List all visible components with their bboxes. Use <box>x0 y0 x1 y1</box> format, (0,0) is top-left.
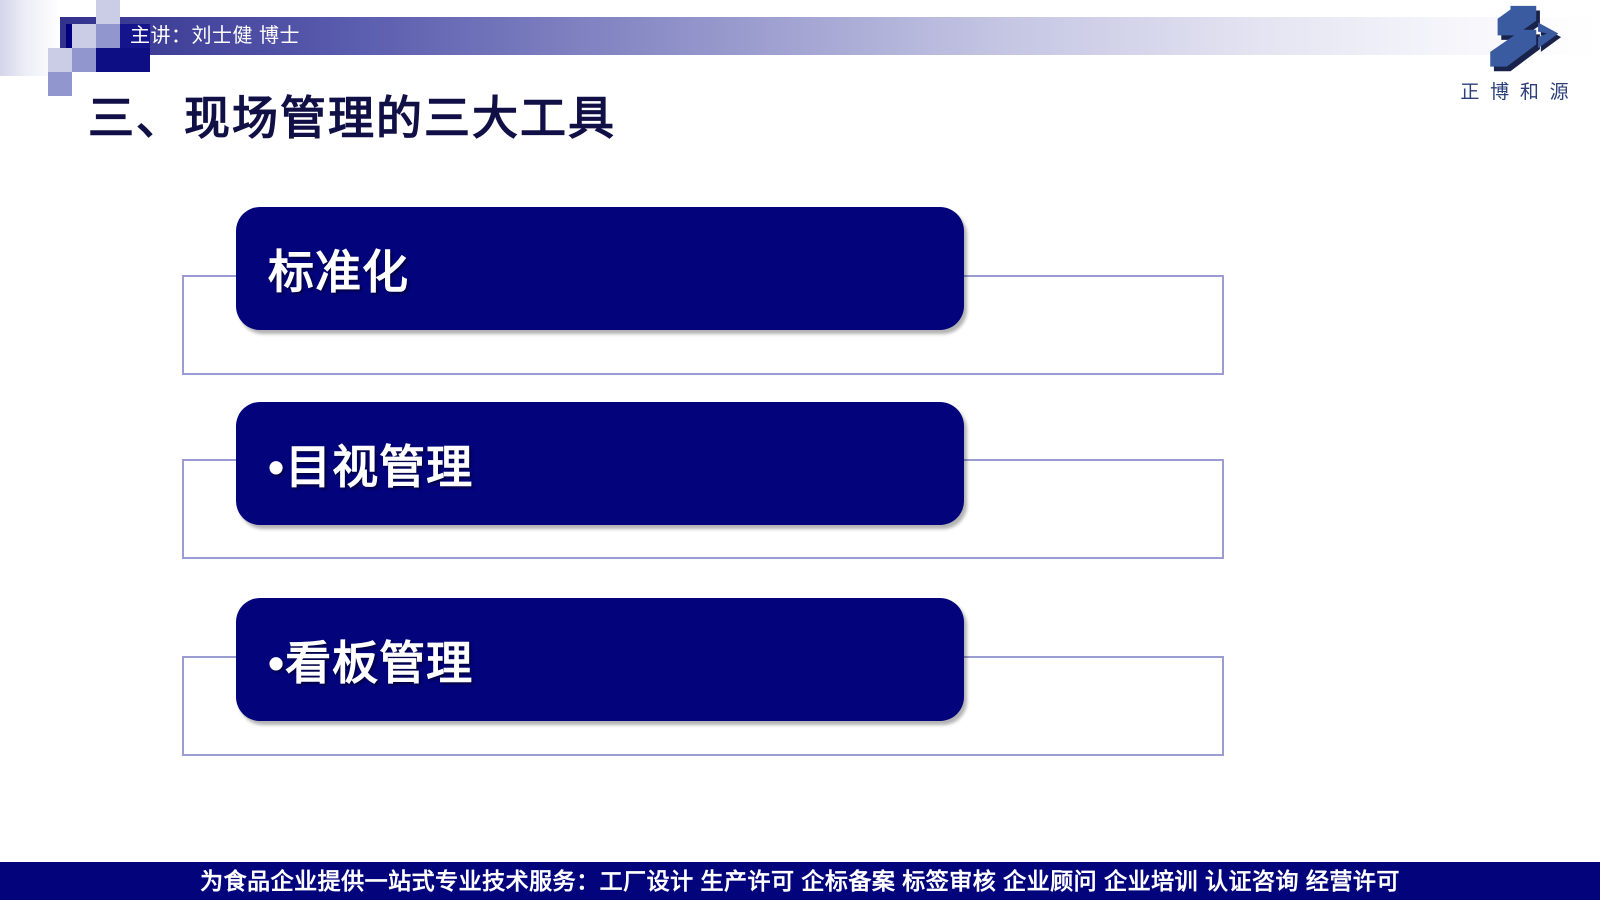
bullet-marker: • <box>268 441 285 493</box>
tool-label: 标准化 <box>236 236 409 302</box>
square-purple-low <box>72 48 96 72</box>
company-mark-icon <box>1470 2 1562 76</box>
footer-text: 为食品企业提供一站式专业技术服务：工厂设计 生产许可 企标备案 标签审核 企业顾… <box>0 862 1600 900</box>
tool-box-standardization[interactable]: 标准化 <box>236 207 964 330</box>
square-lavender-top <box>96 0 120 24</box>
presentation-slide: 主讲：刘士健 博士 正 博 和 源 三、现场管理的三大工具 标准化 •目视管理 … <box>0 0 1600 900</box>
presenter-label: 主讲：刘士健 博士 <box>130 21 300 51</box>
tool-label-text: 看板管理 <box>285 637 473 689</box>
tool-box-visual-management[interactable]: •目视管理 <box>236 402 964 525</box>
bullet-marker: • <box>268 637 285 689</box>
tool-label: •目视管理 <box>236 431 473 497</box>
square-lavender-low <box>48 48 72 72</box>
tool-label-text: 目视管理 <box>285 441 473 493</box>
square-navy-low <box>96 48 150 72</box>
tool-box-kanban-management[interactable]: •看板管理 <box>236 598 964 721</box>
square-purple-bottom <box>48 72 72 96</box>
square-purple-mid <box>96 24 120 48</box>
square-lavender-mid <box>72 24 96 48</box>
logo: 正 博 和 源 <box>1450 2 1582 110</box>
decorative-square-pattern <box>0 0 150 80</box>
logo-text: 正 博 和 源 <box>1450 77 1582 104</box>
tool-label: •看板管理 <box>236 627 473 693</box>
page-title: 三、现场管理的三大工具 <box>88 82 616 148</box>
